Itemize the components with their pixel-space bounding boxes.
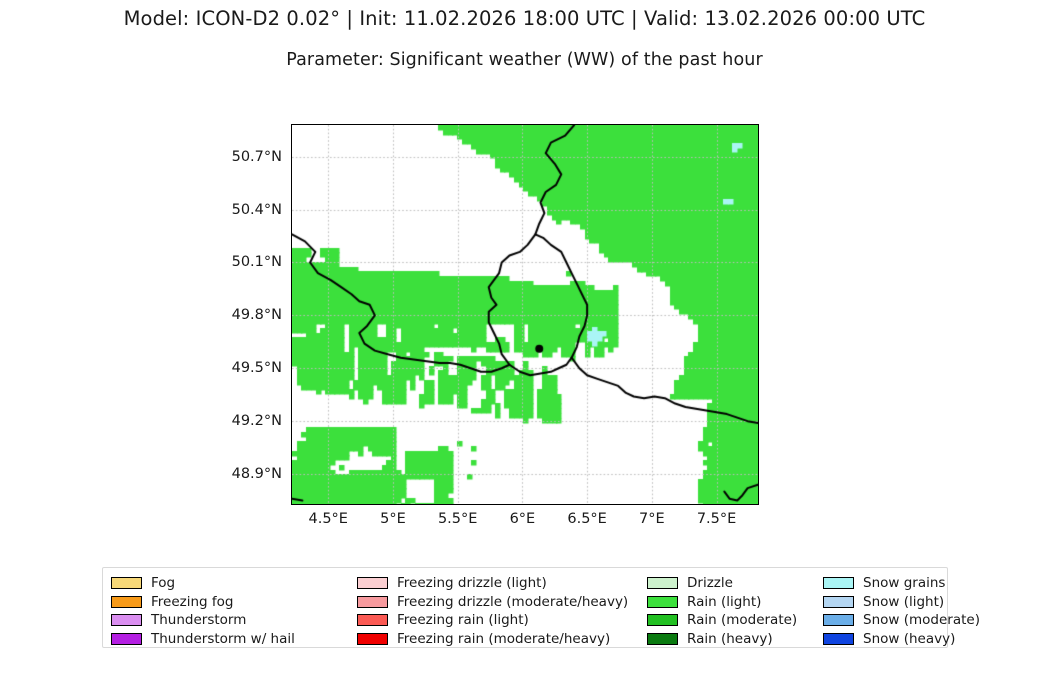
y-axis-tick-label: 49.8°N [192, 307, 282, 323]
x-axis-tick-label: 6°E [482, 511, 562, 527]
legend-swatch [647, 633, 678, 645]
weather-legend: FogFreezing drizzle (light)DrizzleSnow g… [102, 567, 948, 648]
legend-swatch [647, 596, 678, 608]
legend-label: Thunderstorm w/ hail [151, 631, 295, 647]
legend-item: Rain (heavy) [647, 631, 823, 647]
legend-item: Freezing rain (moderate/heavy) [357, 631, 647, 647]
title-model-line: Model: ICON-D2 0.02° | Init: 11.02.2026 … [0, 7, 1049, 30]
legend-swatch [111, 614, 142, 626]
legend-label: Snow (moderate) [863, 612, 980, 628]
legend-label: Freezing rain (light) [397, 612, 529, 628]
legend-item: Snow (light) [823, 594, 957, 610]
legend-item: Rain (light) [647, 594, 823, 610]
legend-label: Freezing fog [151, 594, 233, 610]
legend-item: Freezing rain (light) [357, 612, 647, 628]
legend-label: Freezing drizzle (light) [397, 575, 547, 591]
chart-titles: Model: ICON-D2 0.02° | Init: 11.02.2026 … [0, 0, 1049, 70]
legend-swatch [647, 614, 678, 626]
legend-grid: FogFreezing drizzle (light)DrizzleSnow g… [111, 574, 939, 648]
x-axis-tick-label: 5°E [353, 511, 433, 527]
legend-swatch [823, 614, 854, 626]
x-axis-tick-label: 7°E [612, 511, 692, 527]
y-axis-tick-label: 50.4°N [192, 202, 282, 218]
legend-label: Rain (heavy) [687, 631, 773, 647]
legend-label: Rain (light) [687, 594, 761, 610]
x-axis-tick-label: 7.5°E [677, 511, 757, 527]
legend-swatch [823, 577, 854, 589]
y-axis-tick-label: 49.5°N [192, 360, 282, 376]
y-axis-tick-label: 50.1°N [192, 254, 282, 270]
legend-item: Snow grains [823, 575, 957, 591]
legend-item: Thunderstorm w/ hail [111, 631, 357, 647]
legend-swatch [357, 577, 388, 589]
legend-item: Snow (moderate) [823, 612, 957, 628]
legend-item: Freezing fog [111, 594, 357, 610]
legend-item: Snow (heavy) [823, 631, 957, 647]
title-parameter-line: Parameter: Significant weather (WW) of t… [0, 50, 1049, 70]
legend-swatch [823, 633, 854, 645]
legend-item: Freezing drizzle (light) [357, 575, 647, 591]
legend-label: Freezing rain (moderate/heavy) [397, 631, 610, 647]
legend-swatch [357, 633, 388, 645]
legend-swatch [111, 596, 142, 608]
legend-item: Drizzle [647, 575, 823, 591]
legend-swatch [357, 596, 388, 608]
legend-item: Fog [111, 575, 357, 591]
legend-item: Thunderstorm [111, 612, 357, 628]
x-axis-tick-label: 4.5°E [288, 511, 368, 527]
legend-swatch [823, 596, 854, 608]
y-axis-tick-label: 48.9°N [192, 466, 282, 482]
y-axis-tick-label: 49.2°N [192, 413, 282, 429]
legend-swatch [111, 633, 142, 645]
legend-swatch [111, 577, 142, 589]
weather-map[interactable] [291, 124, 759, 505]
x-axis-tick-label: 6.5°E [547, 511, 627, 527]
legend-label: Freezing drizzle (moderate/heavy) [397, 594, 628, 610]
map-frame [291, 124, 759, 505]
legend-label: Thunderstorm [151, 612, 246, 628]
legend-label: Snow (heavy) [863, 631, 955, 647]
legend-swatch [357, 614, 388, 626]
legend-item: Rain (moderate) [647, 612, 823, 628]
legend-label: Snow grains [863, 575, 945, 591]
legend-label: Drizzle [687, 575, 733, 591]
precipitation-raster [292, 125, 758, 504]
legend-label: Rain (moderate) [687, 612, 797, 628]
legend-item: Freezing drizzle (moderate/heavy) [357, 594, 647, 610]
legend-label: Fog [151, 575, 175, 591]
x-axis-tick-label: 5.5°E [418, 511, 498, 527]
legend-swatch [647, 577, 678, 589]
y-axis-tick-label: 50.7°N [192, 149, 282, 165]
legend-label: Snow (light) [863, 594, 944, 610]
